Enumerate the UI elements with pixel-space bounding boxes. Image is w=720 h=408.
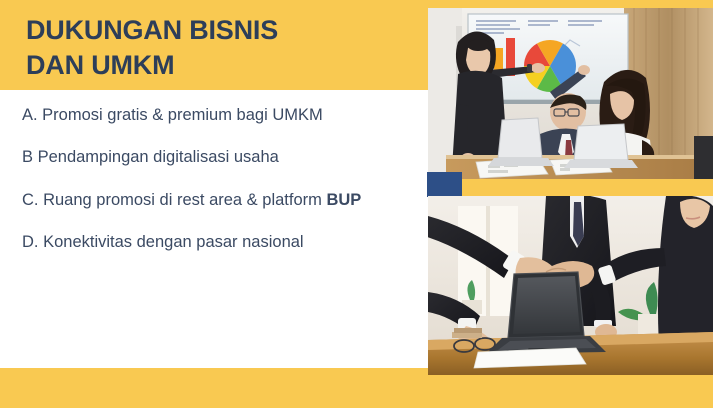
list-item: B Pendampingan digitalisasi usaha [22,146,412,169]
list-item-emphasis: BUP [326,191,361,209]
list-item: C. Ruang promosi di rest area & platform… [22,189,412,212]
page-title-line-2: DAN UMKM [26,48,416,83]
right-margin-strip [713,0,720,408]
list-item: A. Promosi gratis & premium bagi UMKM [22,104,412,127]
business-presentation-photo [428,8,713,179]
navy-accent-square [427,172,462,197]
page-title: DUKUNGAN BISNIS DAN UMKM [26,13,416,82]
list-item: D. Konektivitas dengan pasar nasional [22,231,412,254]
support-points-list: A. Promosi gratis & premium bagi UMKM B … [22,104,412,255]
bottom-accent-band [0,368,428,408]
business-handshake-photo [428,196,713,375]
slide-canvas: DUKUNGAN BISNIS DAN UMKM A. Promosi grat… [0,0,720,408]
page-title-line-1: DUKUNGAN BISNIS [26,13,416,48]
list-item-text: C. Ruang promosi di rest area & platform [22,191,326,209]
